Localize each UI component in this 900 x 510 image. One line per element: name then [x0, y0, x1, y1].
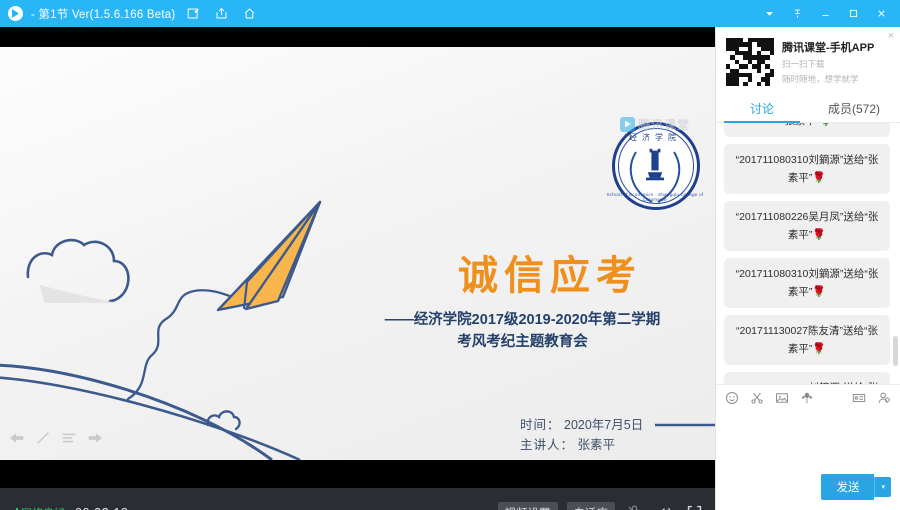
side-panel: 腾讯课堂-手机APP 扫一扫下载 随时随地，想学就学 × 讨论 成员(572) … — [715, 27, 900, 510]
list-item: “201711080310刘鏑源”送给“张素平”🌹 — [724, 258, 890, 308]
presentation-slide: 经济学院 School of Economics · Shangqiu Coll… — [0, 47, 715, 460]
title-bar-left: - 第1节 Ver(1.5.6.166 Beta) — [0, 4, 756, 24]
edit-icon[interactable] — [183, 4, 203, 24]
window-controls — [756, 0, 900, 27]
fullscreen-icon[interactable] — [684, 502, 705, 510]
qr-promo-banner: 腾讯课堂-手机APP 扫一扫下载 随时随地，想学就学 × — [716, 27, 900, 95]
message-text: “201711080226吴月凤”送给“张素平” — [736, 211, 879, 241]
slide-meta: 时间： 2020年7月5日 主讲人： 张素平 — [520, 415, 710, 455]
close-icon[interactable]: × — [888, 31, 894, 42]
undo-arrow-icon[interactable] — [8, 429, 28, 449]
app-logo-icon — [8, 6, 23, 21]
person-icon[interactable] — [877, 391, 891, 405]
slide-annotation-toolbar — [0, 425, 120, 453]
network-status: 网络良好 — [10, 505, 65, 510]
qr-code-image — [726, 38, 774, 86]
window-title: - 第1节 Ver(1.5.6.166 Beta) — [31, 6, 175, 22]
qr-promo-line1: 扫一扫下载 — [782, 58, 892, 70]
qr-promo-line2: 随时随地，想学就学 — [782, 73, 892, 85]
panel-tabs: 讨论 成员(572) — [716, 95, 900, 123]
send-button[interactable]: 发送 — [821, 474, 874, 500]
rose-icon: 🌹 — [812, 343, 826, 355]
home-icon[interactable] — [239, 4, 259, 24]
share-icon[interactable] — [211, 4, 231, 24]
tab-members[interactable]: 成员(572) — [808, 95, 900, 122]
pin-button[interactable] — [784, 0, 810, 27]
video-stage[interactable]: 经济学院 School of Economics · Shangqiu Coll… — [0, 27, 715, 510]
elapsed-time: 00:22:18 — [75, 506, 128, 510]
slide-subtitle-line2: 考风考纪主题教育会 — [345, 331, 700, 353]
message-text: “201711080310刘鏑源”送给“张素平” — [736, 382, 879, 384]
watermark-play-icon — [620, 117, 635, 132]
flower-gift-icon[interactable] — [800, 391, 814, 405]
rose-icon: 🌹 — [812, 172, 826, 184]
rose-icon: 🌹 — [819, 123, 833, 127]
slide-time-row: 时间： 2020年7月5日 — [520, 415, 710, 435]
redo-arrow-icon[interactable] — [86, 429, 106, 449]
slide-subtitle: ——经济学院2017级2019-2020年第二学期 考风考纪主题教育会 — [345, 309, 700, 353]
card-icon[interactable] — [852, 391, 866, 405]
send-options-button[interactable]: ▾ — [874, 477, 891, 497]
network-status-label: 网络良好 — [21, 505, 65, 510]
message-scrollbar[interactable] — [893, 336, 898, 366]
tab-discussion[interactable]: 讨论 — [716, 95, 808, 122]
rose-icon: 🌹 — [812, 286, 826, 298]
slide-speaker-label: 主讲人： — [520, 438, 574, 452]
watermark-text: 腾讯课堂 — [638, 116, 690, 133]
pen-icon[interactable] — [34, 429, 54, 449]
qr-promo-text: 腾讯课堂-手机APP 扫一扫下载 随时随地，想学就学 — [782, 39, 892, 85]
video-settings-button[interactable]: 视频设置 — [498, 502, 558, 510]
emblem-bottom-text: School of Economics · Shangqiu College o… — [606, 192, 704, 202]
player-control-bar: 网络良好 00:22:18 视频设置 自适应 — [0, 488, 715, 510]
message-text: “201711080310刘鏑源”送给“张素平” — [736, 154, 879, 184]
slide-speaker-value: 张素平 — [578, 438, 616, 452]
chat-input[interactable] — [716, 410, 900, 472]
list-item: “201711080226吴月凤”送给“张素平”🌹 — [724, 201, 890, 251]
chat-toolbar — [716, 384, 900, 410]
emoji-icon[interactable] — [725, 391, 739, 405]
minimize-button[interactable] — [812, 0, 838, 27]
mic-muted-icon[interactable] — [624, 502, 645, 510]
speaker-icon[interactable] — [654, 502, 675, 510]
slide-time-label: 时间： — [520, 418, 561, 432]
scissors-icon[interactable] — [750, 391, 764, 405]
tencent-classroom-watermark: 腾讯课堂 — [620, 113, 715, 135]
image-icon[interactable] — [775, 391, 789, 405]
rose-icon: 🌹 — [812, 229, 826, 241]
quality-selector-button[interactable]: 自适应 — [567, 502, 616, 510]
list-item: “201711080310刘鏑源”送给“张素平”🌹 — [724, 372, 890, 384]
message-text: “201711130027陈友清”送给“张素平” — [736, 325, 878, 355]
slide-speaker-row: 主讲人： 张素平 — [520, 435, 710, 455]
slide-title: 诚信应考 — [400, 243, 700, 301]
list-item: “201711130027陈友清”送给“张素平”🌹 — [724, 315, 890, 365]
slide-time-value: 2020年7月5日 — [564, 418, 643, 432]
tencent-classroom-window: - 第1节 Ver(1.5.6.166 Beta) — [0, 0, 900, 510]
qr-promo-title: 腾讯课堂-手机APP — [782, 39, 892, 55]
send-row: 发送 ▾ — [716, 472, 900, 510]
chevron-down-button[interactable] — [756, 0, 782, 27]
slide-subtitle-line1: ——经济学院2017级2019-2020年第二学期 — [345, 309, 700, 331]
player-bar-left: 网络良好 00:22:18 — [0, 505, 498, 510]
player-bar-right: 视频设置 自适应 — [498, 502, 716, 510]
title-bar: - 第1节 Ver(1.5.6.166 Beta) — [0, 0, 900, 27]
message-list[interactable]: “张素平”🌹 “201711080310刘鏑源”送给“张素平”🌹 “201711… — [716, 123, 900, 384]
list-icon[interactable] — [60, 429, 80, 449]
maximize-button[interactable] — [840, 0, 866, 27]
message-text: “张素平” — [781, 123, 820, 127]
list-item: “张素平”🌹 — [724, 123, 890, 137]
close-button[interactable] — [868, 0, 894, 27]
message-text: “201711080310刘鏑源”送给“张素平” — [736, 268, 879, 298]
list-item: “201711080310刘鏑源”送给“张素平”🌹 — [724, 144, 890, 194]
